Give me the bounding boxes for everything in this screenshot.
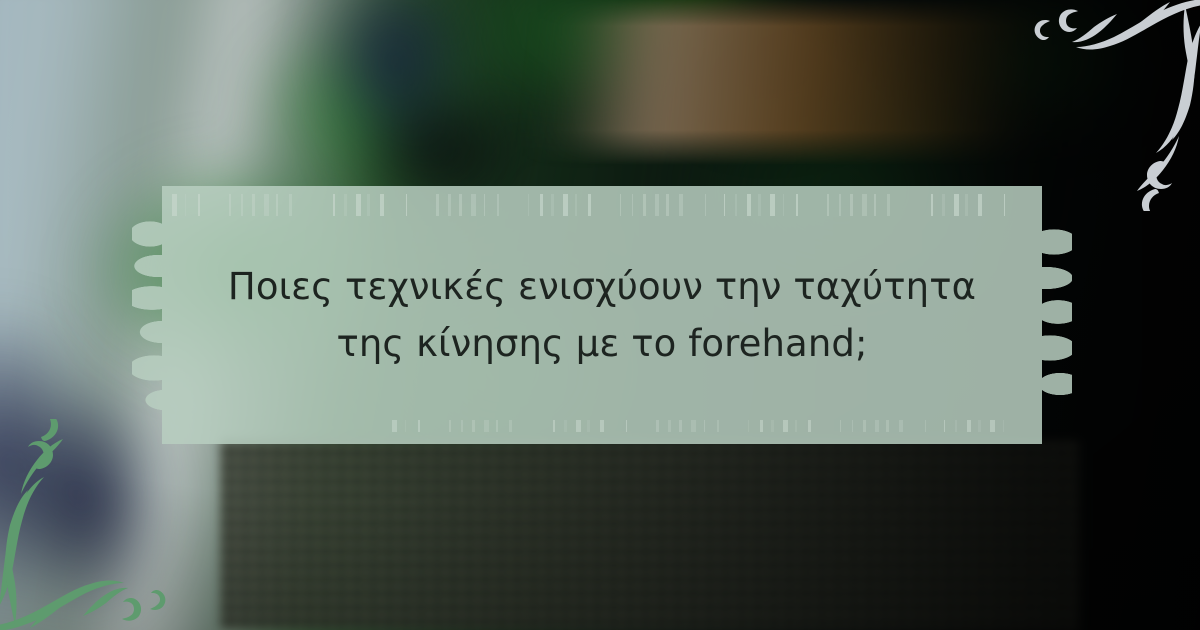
quote-text-container: Ποιες τεχνικές ενισχύουν την ταχύτητα τη… <box>132 186 1072 444</box>
quote-text: Ποιες τεχνικές ενισχύουν την ταχύτητα τη… <box>222 258 982 373</box>
quote-banner: Ποιες τεχνικές ενισχύουν την ταχύτητα τη… <box>132 186 1072 444</box>
quote-card: Ποιες τεχνικές ενισχύουν την ταχύτητα τη… <box>0 0 1200 630</box>
